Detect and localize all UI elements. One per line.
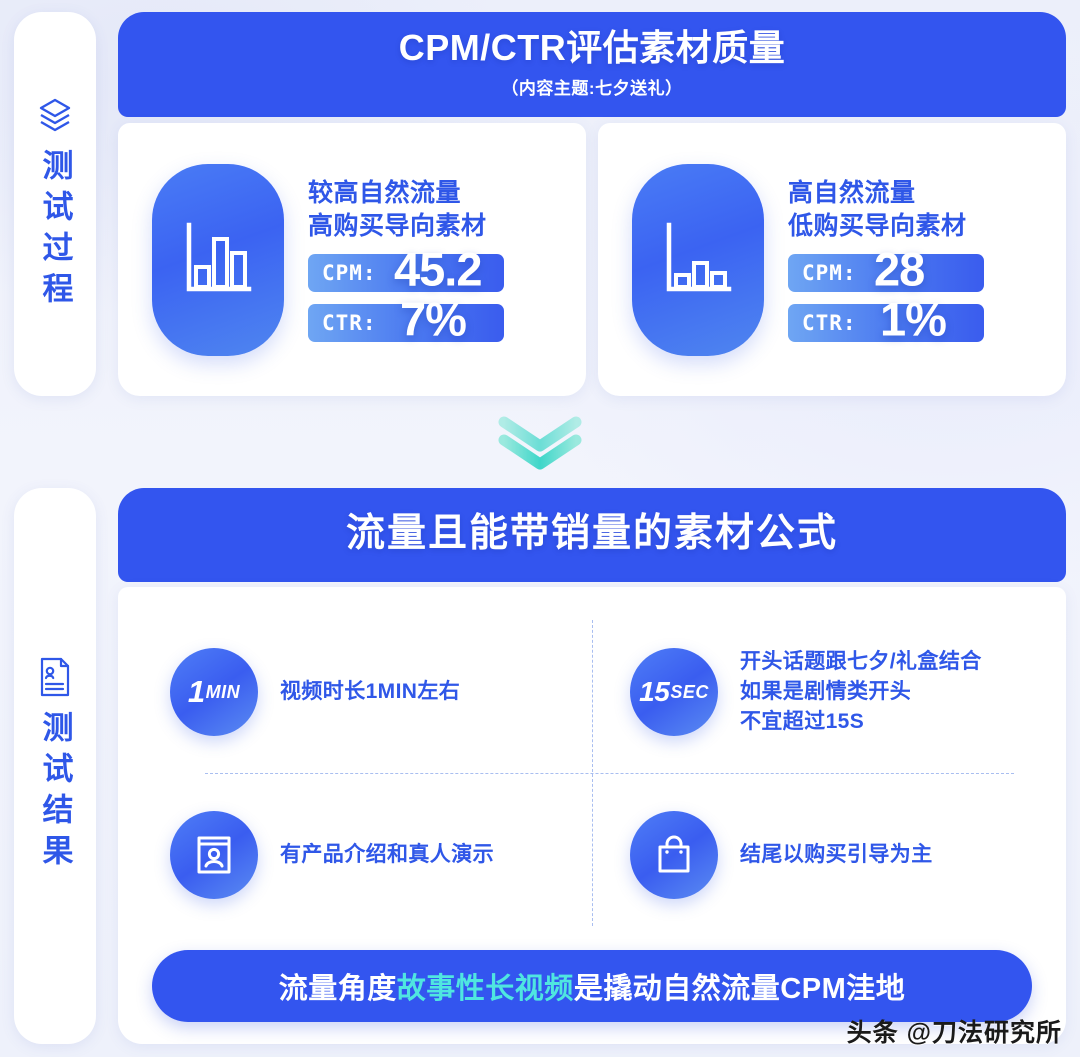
badge-unit: SEC <box>670 682 709 703</box>
layers-icon <box>35 95 75 135</box>
duration-15sec-badge: 15 SEC <box>630 648 718 736</box>
metric-card: 较高自然流量 高购买导向素材 CPM: 45.2 CTR: 7% <box>118 123 586 396</box>
conclusion-prefix: 流量角度 <box>279 965 397 1007</box>
section-test-process: 测试过程 CPM/CTR评估素材质量 （内容主题:七夕送礼） <box>14 12 1066 396</box>
result-panel: 流量且能带销量的素材公式 1 MIN 视频时长1MIN左右 <box>118 488 1066 1044</box>
watermark: 头条 @刀法研究所 <box>847 1013 1062 1049</box>
kpi-cpm: CPM: 45.2 <box>308 254 504 292</box>
formula-item: 1 MIN 视频时长1MIN左右 <box>152 611 592 774</box>
document-person-icon <box>35 657 75 697</box>
formula-text: 视频时长1MIN左右 <box>280 677 460 707</box>
kpi-cpm-value: 45.2 <box>394 246 481 293</box>
bar-chart-high-icon <box>152 164 284 356</box>
duration-1min-badge: 1 MIN <box>170 648 258 736</box>
process-subtitle: （内容主题:七夕送礼） <box>118 74 1066 99</box>
shopping-bag-icon <box>630 811 718 899</box>
kpi-cpm: CPM: 28 <box>788 254 984 292</box>
result-header: 流量且能带销量的素材公式 <box>118 488 1066 582</box>
formula-grid: 1 MIN 视频时长1MIN左右 15 SEC 开头话题跟七夕/礼盒结合 如果是… <box>152 611 1032 936</box>
rail-label-test-result: 测试结果 <box>40 711 71 875</box>
metric-badges: CPM: 45.2 CTR: 7% <box>308 254 566 342</box>
metric-badges: CPM: 28 CTR: 1% <box>788 254 1046 342</box>
formula-item: 结尾以购买引导为主 <box>592 773 1032 936</box>
conclusion-highlight: 故事性长视频 <box>397 965 574 1007</box>
bar-chart-low-icon <box>632 164 764 356</box>
section-divider <box>0 404 1080 482</box>
badge-unit: MIN <box>206 682 241 703</box>
process-header: CPM/CTR评估素材质量 （内容主题:七夕送礼） <box>118 12 1066 117</box>
kpi-ctr: CTR: 7% <box>308 304 504 342</box>
infographic-page: 测试过程 CPM/CTR评估素材质量 （内容主题:七夕送礼） <box>0 0 1080 1057</box>
formula-text: 有产品介绍和真人演示 <box>280 840 494 870</box>
kpi-cpm-value: 28 <box>874 246 924 293</box>
metric-title: 较高自然流量 高购买导向素材 <box>308 177 566 242</box>
formula-text: 开头话题跟七夕/礼盒结合 如果是剧情类开头 不宜超过15S <box>740 647 982 736</box>
section-test-result: 测试结果 流量且能带销量的素材公式 1 MIN 视频时长1MIN左右 <box>14 488 1066 1044</box>
kpi-cpm-label: CPM: <box>322 261 377 285</box>
kpi-ctr-label: CTR: <box>802 311 857 335</box>
kpi-ctr-value: 7% <box>400 296 466 343</box>
metric-body: 较高自然流量 高购买导向素材 CPM: 45.2 CTR: 7% <box>308 177 566 342</box>
formula-text: 结尾以购买引导为主 <box>740 840 933 870</box>
metric-title: 高自然流量 低购买导向素材 <box>788 177 1046 242</box>
conclusion-suffix: 是撬动自然流量CPM洼地 <box>574 965 905 1007</box>
rail-test-result: 测试结果 <box>14 488 96 1044</box>
rail-label-test-process: 测试过程 <box>40 149 71 313</box>
kpi-cpm-label: CPM: <box>802 261 857 285</box>
badge-number: 1 <box>188 674 205 710</box>
badge-number: 15 <box>639 676 669 708</box>
conclusion-banner: 流量角度故事性长视频是撬动自然流量CPM洼地 <box>152 950 1032 1022</box>
id-card-person-icon <box>170 811 258 899</box>
result-title: 流量且能带销量的素材公式 <box>118 512 1066 556</box>
metric-card: 高自然流量 低购买导向素材 CPM: 28 CTR: 1% <box>598 123 1066 396</box>
rail-test-process: 测试过程 <box>14 12 96 396</box>
kpi-ctr-value: 1% <box>880 296 946 343</box>
result-body: 1 MIN 视频时长1MIN左右 15 SEC 开头话题跟七夕/礼盒结合 如果是… <box>118 587 1066 1044</box>
kpi-ctr: CTR: 1% <box>788 304 984 342</box>
formula-item: 有产品介绍和真人演示 <box>152 773 592 936</box>
metric-card-row: 较高自然流量 高购买导向素材 CPM: 45.2 CTR: 7% <box>118 123 1066 396</box>
kpi-ctr-label: CTR: <box>322 311 377 335</box>
process-panel: CPM/CTR评估素材质量 （内容主题:七夕送礼） 较 <box>118 12 1066 396</box>
formula-item: 15 SEC 开头话题跟七夕/礼盒结合 如果是剧情类开头 不宜超过15S <box>592 611 1032 774</box>
process-title: CPM/CTR评估素材质量 <box>118 28 1066 68</box>
metric-body: 高自然流量 低购买导向素材 CPM: 28 CTR: 1% <box>788 177 1046 342</box>
double-chevron-down-icon <box>494 414 586 472</box>
